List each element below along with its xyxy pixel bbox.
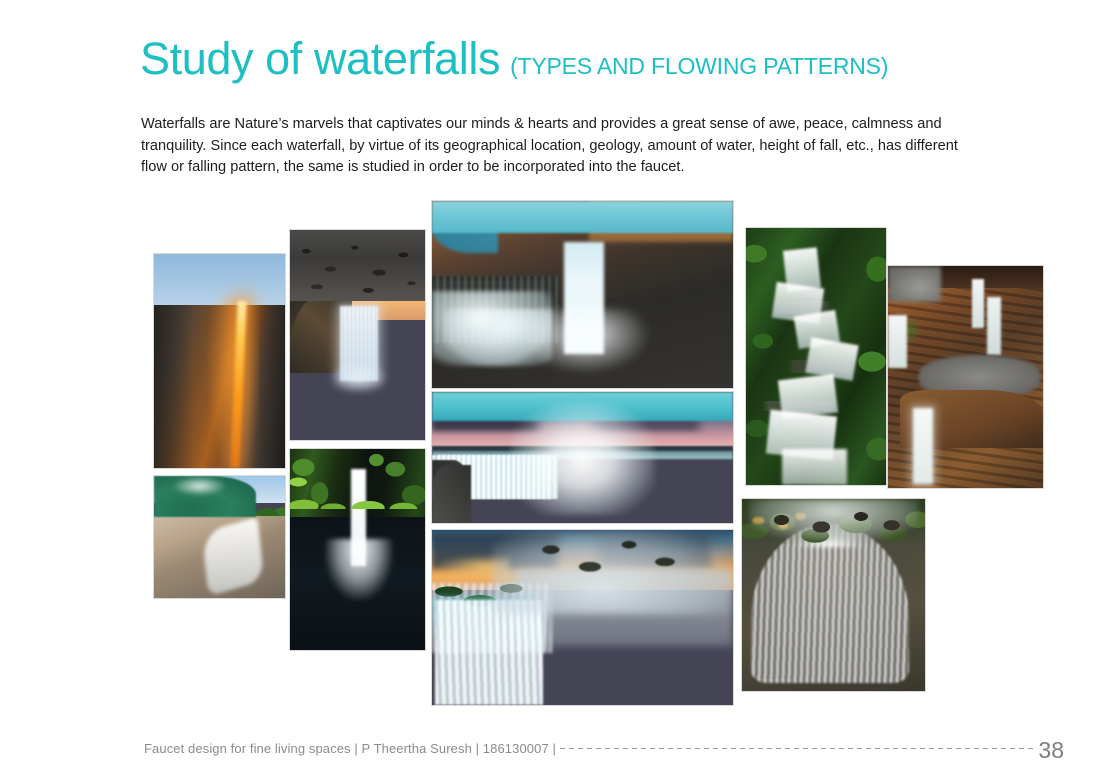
photo-mossy-punchbowl-fall: [290, 449, 425, 650]
waterfall-photo-collage: [0, 0, 1100, 778]
photo-iguazu-sunset-tiers: [432, 530, 733, 705]
photo-sunset-curtain-fall: [290, 230, 425, 440]
photo-winter-basalt-column-fall: [432, 201, 733, 388]
photo-tiered-forest-cascade: [746, 228, 886, 485]
footer-credit: Faucet design for fine living spaces | P…: [144, 741, 556, 756]
photo-fan-veil-fall: [742, 499, 925, 691]
photo-horseshoe-falls-dusk: [432, 392, 733, 523]
footer-dashed-rule: [560, 748, 1035, 749]
slide-canvas: Study of waterfalls (TYPES AND FLOWING P…: [0, 0, 1100, 778]
photo-horsetail-firefall: [154, 254, 285, 468]
photo-forest-rock-slab-cascade: [154, 476, 285, 598]
slide-footer: Faucet design for fine living spaces | P…: [0, 724, 1100, 778]
page-number: 38: [1038, 739, 1064, 762]
photo-ochre-ledge-falls: [888, 266, 1043, 488]
